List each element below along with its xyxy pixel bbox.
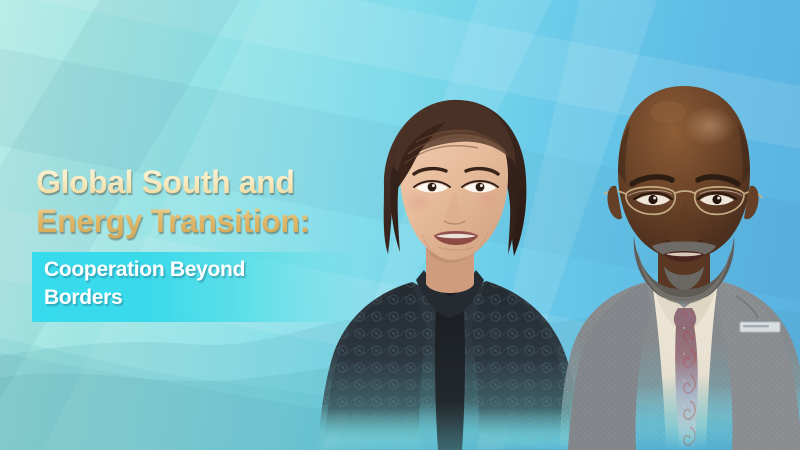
title-block: Global South and Energy Transition: bbox=[36, 163, 376, 241]
page-title: Global South and Energy Transition: bbox=[36, 163, 376, 241]
page-subtitle: Cooperation Beyond Borders bbox=[44, 256, 364, 311]
speaker-portrait-man bbox=[560, 60, 800, 450]
banner-stage: Global South and Energy Transition: Coop… bbox=[0, 0, 800, 450]
